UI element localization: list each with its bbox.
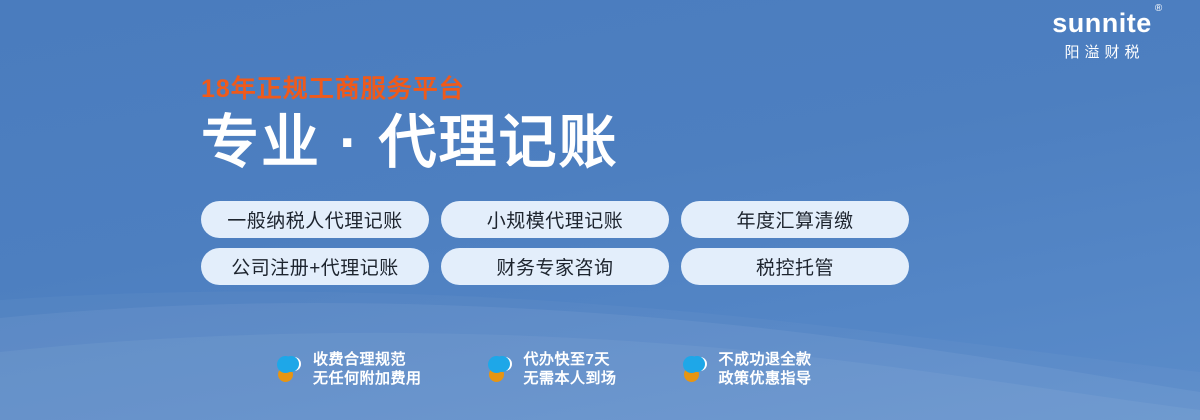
registered-trademark-icon: ®	[1155, 4, 1163, 14]
logo-wordmark-text: sunnite	[1052, 8, 1152, 38]
page-title: 专业 · 代理记账	[201, 110, 619, 176]
logo-wordmark: sunnite ®	[1052, 8, 1152, 38]
eclipse-dot-icon-blue	[277, 356, 294, 373]
eclipse-dot-icon-blue	[488, 356, 505, 373]
feature-text: 收费合理规范 无任何附加费用	[313, 350, 422, 388]
feature-line-1: 代办快至7天	[524, 351, 610, 368]
promo-banner: sunnite ® 阳溢财税 18年正规工商服务平台 专业 · 代理记账 一般纳…	[0, 0, 1200, 420]
logo-subtitle: 阳溢财税	[1022, 44, 1182, 62]
eclipse-dot-icon	[681, 354, 709, 384]
feature-line-2: 无任何附加费用	[313, 370, 422, 387]
service-pill-grid: 一般纳税人代理记账 小规模代理记账 年度汇算清缴 公司注册+代理记账 财务专家咨…	[201, 201, 909, 285]
eclipse-dot-icon-blue	[683, 356, 700, 373]
feature-text: 不成功退全款 政策优惠指导	[719, 350, 812, 388]
headline-block: 18年正规工商服务平台 专业 · 代理记账	[201, 74, 619, 176]
feature-list: 收费合理规范 无任何附加费用 代办快至7天 无需本人到场	[275, 350, 812, 388]
service-pill[interactable]: 税控托管	[681, 248, 909, 285]
feature-line-2: 政策优惠指导	[719, 370, 812, 387]
eclipse-dot-icon	[486, 354, 514, 384]
list-item: 代办快至7天 无需本人到场	[486, 350, 617, 388]
service-pill[interactable]: 财务专家咨询	[441, 248, 669, 285]
service-pill[interactable]: 年度汇算清缴	[681, 201, 909, 238]
headline-kicker: 18年正规工商服务平台	[201, 74, 619, 104]
list-item: 收费合理规范 无任何附加费用	[275, 350, 422, 388]
feature-line-1: 收费合理规范	[313, 351, 406, 368]
service-pill[interactable]: 小规模代理记账	[441, 201, 669, 238]
service-pill[interactable]: 公司注册+代理记账	[201, 248, 429, 285]
service-pill[interactable]: 一般纳税人代理记账	[201, 201, 429, 238]
feature-line-2: 无需本人到场	[524, 370, 617, 387]
feature-line-1: 不成功退全款	[719, 351, 812, 368]
feature-text: 代办快至7天 无需本人到场	[524, 350, 617, 388]
eclipse-dot-icon	[275, 354, 303, 384]
brand-logo[interactable]: sunnite ® 阳溢财税	[1022, 8, 1182, 62]
list-item: 不成功退全款 政策优惠指导	[681, 350, 812, 388]
